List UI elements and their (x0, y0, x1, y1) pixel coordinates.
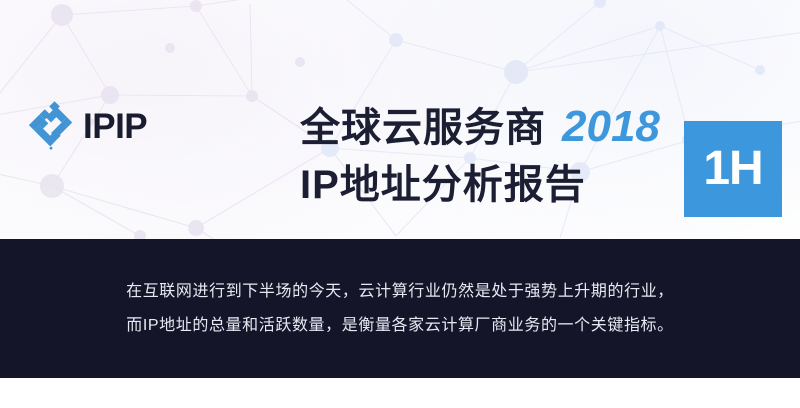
brand-logo: IPIP (28, 100, 147, 152)
half-year-badge: 1H (684, 121, 782, 217)
cover-title: 全球云服务商 2018 IP地址分析报告 (300, 98, 680, 214)
report-cover: IPIP 全球云服务商 2018 IP地址分析报告 1H 在互联网进行到下半场的… (0, 0, 800, 408)
title-line-2: IP地址分析报告 (300, 156, 680, 214)
brand-wordmark: IPIP (83, 109, 147, 144)
summary-band: 在互联网进行到下半场的今天，云计算行业仍然是处于强势上升期的行业， 而IP地址的… (0, 239, 800, 378)
title-line-1: 全球云服务商 2018 (300, 98, 680, 156)
footer-strip (0, 378, 800, 408)
report-year: 2018 (562, 98, 660, 156)
title-line-1-text: 全球云服务商 (300, 99, 546, 157)
ipip-logo-mark-icon (28, 101, 74, 151)
half-year-badge-label: 1H (703, 145, 762, 193)
summary-line-2: 而IP地址的总量和活跃数量，是衡量各家云计算厂商业务的一个关键指标。 (126, 309, 674, 343)
title-line-2-text: IP地址分析报告 (300, 156, 586, 214)
hero-section: IPIP 全球云服务商 2018 IP地址分析报告 1H (0, 0, 800, 239)
summary-line-1: 在互联网进行到下半场的今天，云计算行业仍然是处于强势上升期的行业， (126, 275, 674, 309)
